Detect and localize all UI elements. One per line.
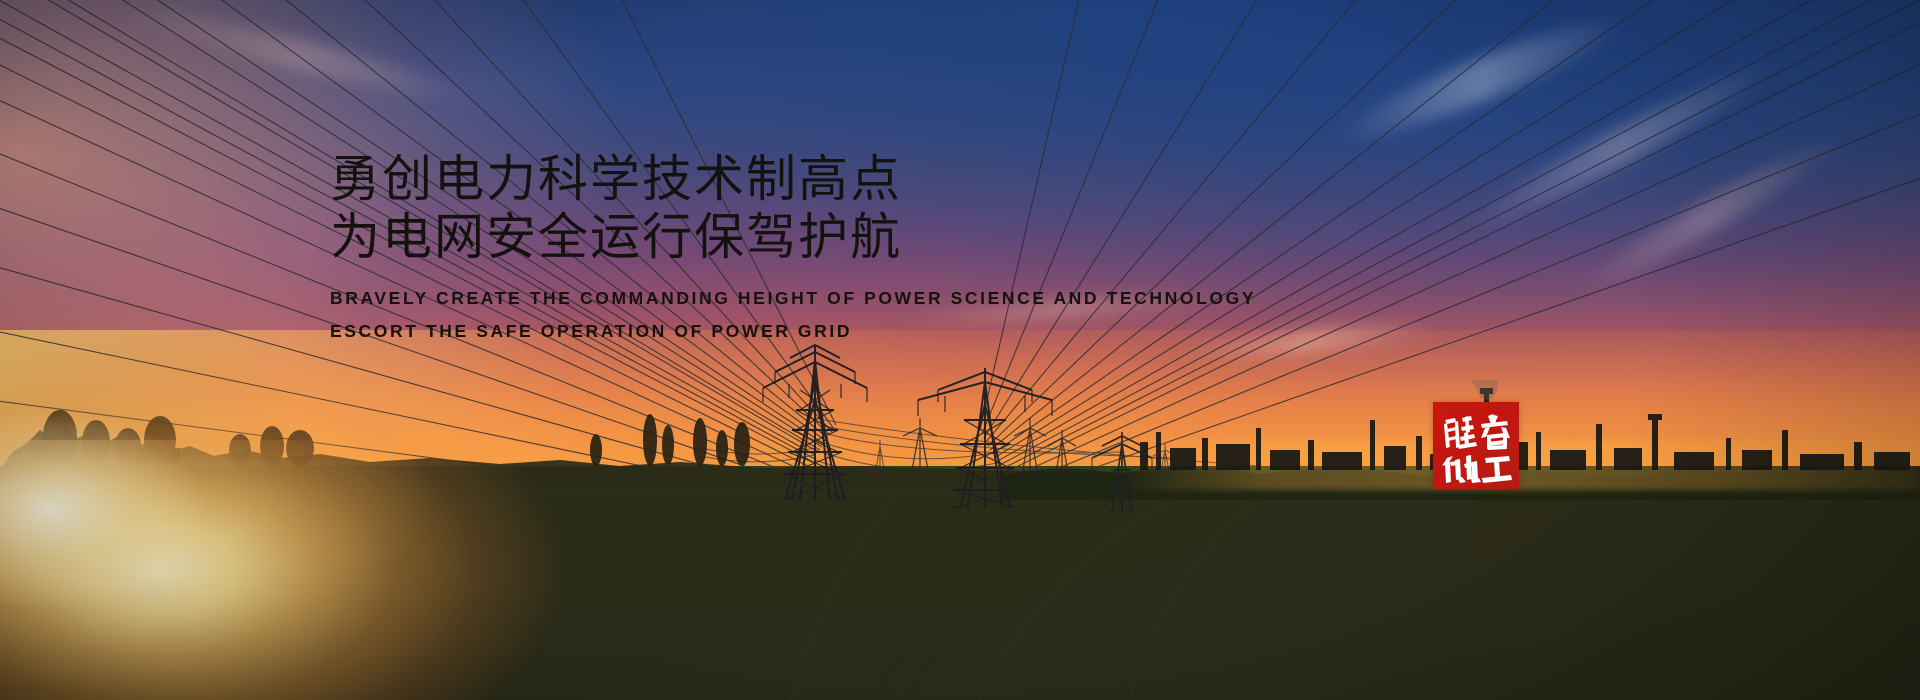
banner-copy: 勇创电力科学技术制高点 为电网安全运行保驾护航 BRAVELY CREATE T… [330,150,1530,348]
headline-line-2: 为电网安全运行保驾护航 [330,208,1530,266]
company-seal-logo[interactable] [1433,402,1519,489]
subheadline-line-2: ESCORT THE SAFE OPERATION OF POWER GRID [330,315,1530,348]
headline-line-1: 勇创电力科学技术制高点 [330,150,1530,208]
seal-calligraphy-icon [1433,402,1519,489]
field-ground [0,466,1920,700]
hero-banner: 勇创电力科学技术制高点 为电网安全运行保驾护航 BRAVELY CREATE T… [0,0,1920,700]
subheadline-line-1: BRAVELY CREATE THE COMMANDING HEIGHT OF … [330,282,1530,315]
